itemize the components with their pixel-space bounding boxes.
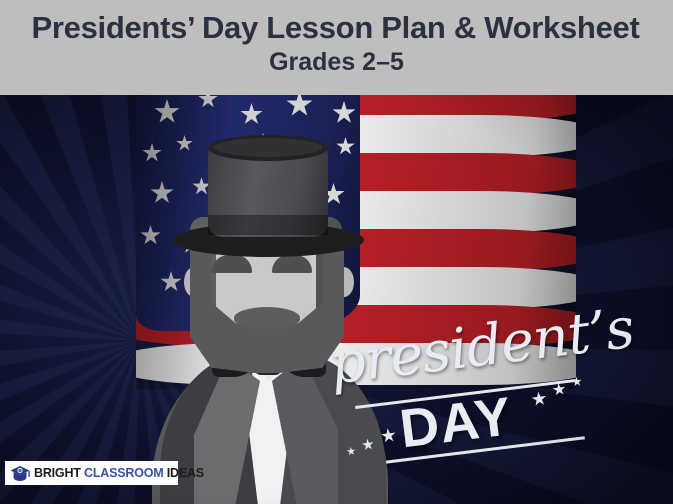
lockup-star <box>361 438 374 451</box>
flag-star <box>198 95 218 109</box>
brand-word-bright: BRIGHT <box>34 466 81 480</box>
page-subtitle: Grades 2–5 <box>269 47 404 78</box>
lockup-star <box>346 446 356 456</box>
brand-word-classroom: CLASSROOM <box>84 466 163 480</box>
cover-illustration: president’s DAY <box>0 95 673 504</box>
page-title: Presidents’ Day Lesson Plan & Worksheet <box>32 10 640 46</box>
lincoln-mustache <box>234 307 300 329</box>
flag-star <box>154 99 180 125</box>
flag-star <box>332 101 356 125</box>
flag-star <box>336 137 355 156</box>
flag-star <box>286 95 313 118</box>
brand-word-ideas: IDEAS <box>167 466 204 480</box>
brand-logo-text: BRIGHT CLASSROOM IDEAS <box>34 467 204 480</box>
lockup-star <box>531 391 548 408</box>
flag-star <box>176 135 193 152</box>
flag-star <box>240 103 263 126</box>
presidents-day-resource-cover: Presidents’ Day Lesson Plan & Worksheet … <box>0 0 673 504</box>
lockup-star <box>380 427 397 444</box>
top-hat-shadow <box>208 215 328 235</box>
brand-logo[interactable]: BRIGHT CLASSROOM IDEAS <box>5 461 178 485</box>
graduation-cap-icon <box>10 465 30 482</box>
header-banner: Presidents’ Day Lesson Plan & Worksheet … <box>0 0 673 95</box>
top-hat-top-highlight <box>214 138 322 157</box>
